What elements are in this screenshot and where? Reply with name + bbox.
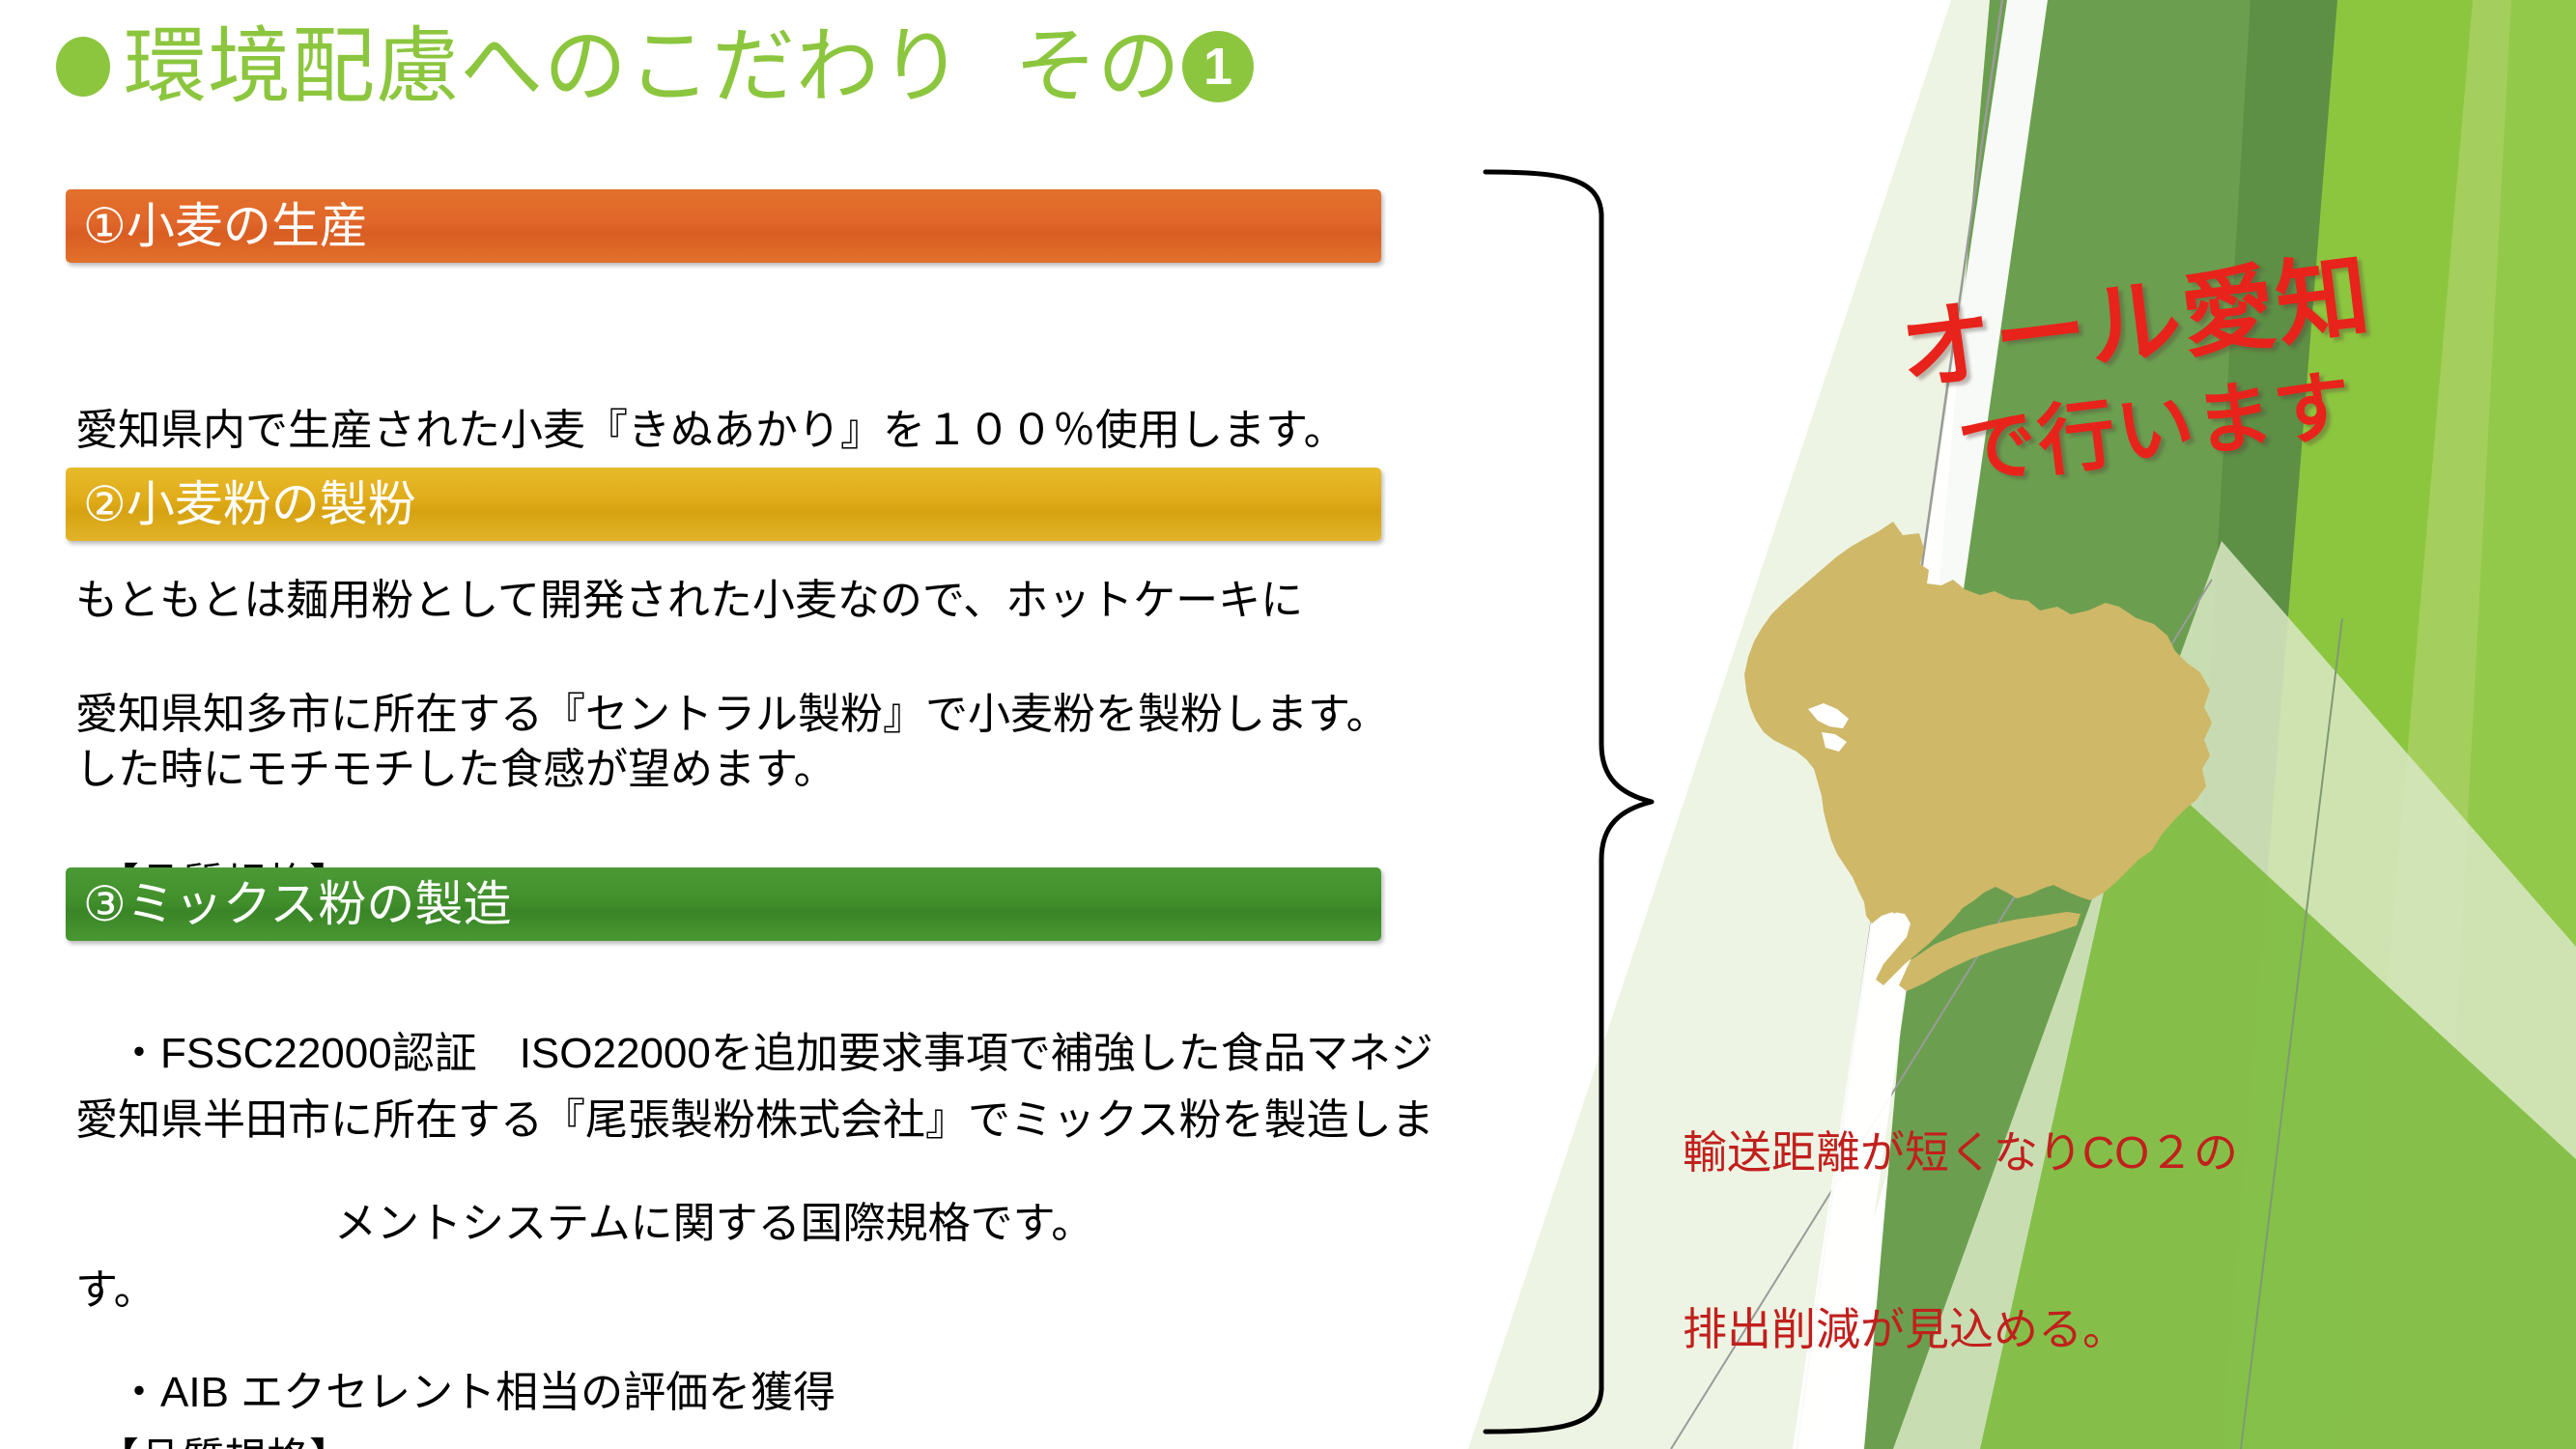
bg-hairline-3 bbox=[2241, 618, 2342, 1449]
red-headline: オール愛知 で行います bbox=[1895, 232, 2543, 585]
page-title-number-badge: 1 bbox=[1182, 31, 1254, 102]
body-line: 愛知県内で生産された小麦『きぬあかり』を１００％使用します。 bbox=[75, 403, 1346, 460]
section-header-label: ①小麦の生産 bbox=[66, 202, 368, 250]
body-line: 愛知県半田市に所在する『尾張製粉株式会社』でミックス粉を製造しま bbox=[75, 1093, 1558, 1150]
page-title: 環境配慮へのこだわり その 1 bbox=[56, 25, 1254, 108]
body-line: 愛知県知多市に所在する『セントラル製粉』で小麦粉を製粉します。 bbox=[75, 687, 1433, 744]
page-title-main: 環境配慮へのこだわり bbox=[124, 25, 964, 108]
red-caption-line: 排出削減が見込める。 bbox=[1683, 1300, 2238, 1359]
bg-shape-bright-2 bbox=[2347, 0, 2576, 1449]
section-header-mix-flour-manufacturing: ③ミックス粉の製造 bbox=[66, 867, 1381, 941]
right-curly-brace-icon bbox=[1476, 164, 1659, 1439]
bg-shape-bright-3 bbox=[2434, 0, 2576, 1449]
section-header-wheat-production: ①小麦の生産 bbox=[66, 189, 1381, 263]
section-header-label: ③ミックス粉の製造 bbox=[66, 880, 511, 928]
red-caption: 輸送距離が短くなりCO２の 排出削減が見込める。 bbox=[1683, 1007, 2238, 1449]
red-caption-line: 輸送距離が短くなりCO２の bbox=[1683, 1123, 2238, 1182]
aichi-prefecture-map-icon bbox=[1721, 510, 2243, 1003]
bg-shape-bright-1 bbox=[2222, 0, 2521, 1449]
slide-canvas: 環境配慮へのこだわり その 1 ①小麦の生産 愛知県内で生産された小麦『きぬあか… bbox=[0, 0, 2576, 1449]
section-header-label: ②小麦粉の製粉 bbox=[66, 480, 416, 528]
page-title-sub: その bbox=[1014, 25, 1180, 108]
body-line: す。 bbox=[75, 1263, 1558, 1320]
section-header-flour-milling: ②小麦粉の製粉 bbox=[66, 468, 1381, 541]
body-line: 【品質規格】 bbox=[75, 1432, 1558, 1449]
bullet-circle-icon bbox=[56, 37, 110, 97]
section-body-mix-flour-manufacturing: 愛知県半田市に所在する『尾張製粉株式会社』でミックス粉を製造しま す。 【品質規… bbox=[75, 980, 1558, 1449]
